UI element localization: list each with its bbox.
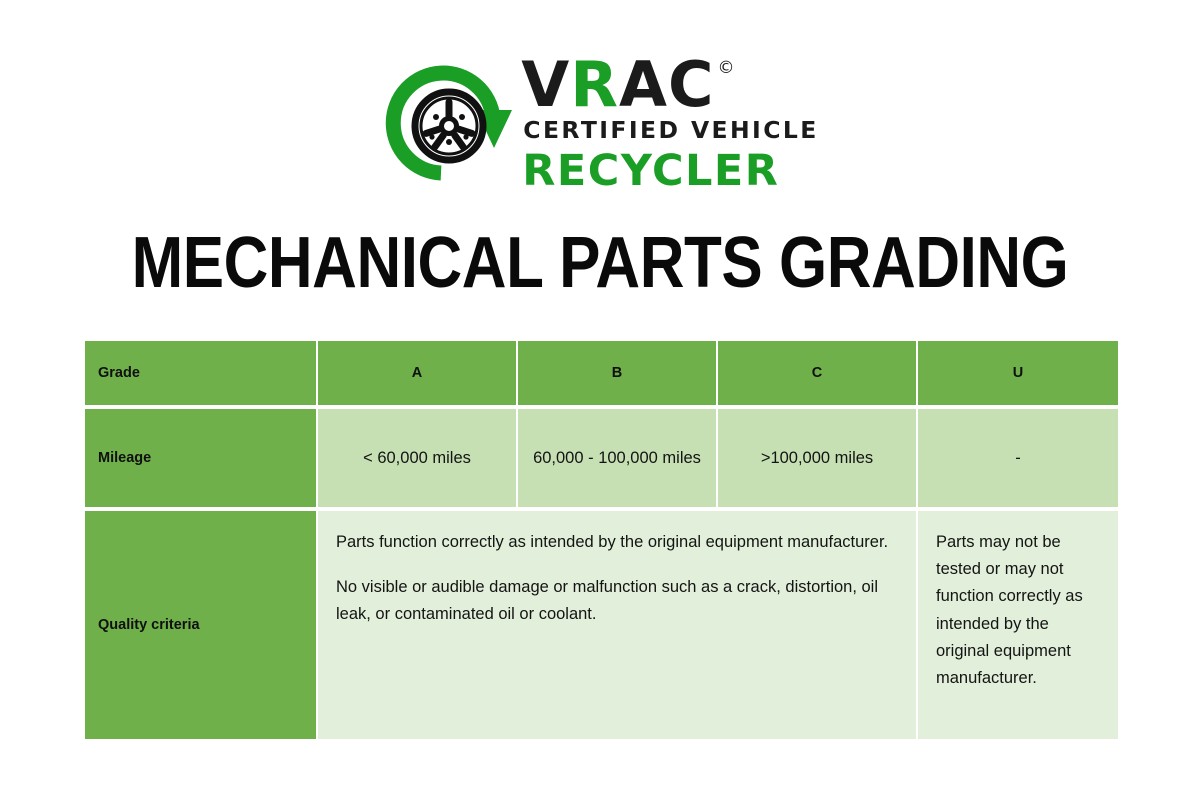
table-row-quality-criteria: Quality criteria Parts function correctl… [85,511,1118,739]
column-header-u: U [918,341,1118,405]
logo-recycler-word: RECYCLER [522,146,779,196]
quality-u-text: Parts may not be tested or may not funct… [936,529,1100,692]
cell-quality-abc: Parts function correctly as intended by … [318,511,918,739]
column-header-a: A [318,341,518,405]
brand-logo: VRAC© CERTIFIED VEHICLE RECYCLER [0,52,1200,202]
cell-mileage-c: >100,000 miles [718,409,918,507]
cell-quality-u: Parts may not be tested or may not funct… [918,511,1118,739]
cell-mileage-b: 60,000 - 100,000 miles [518,409,718,507]
cell-mileage-u: - [918,409,1118,507]
quality-paragraph-1: Parts function correctly as intended by … [336,529,898,556]
copyright-icon: © [718,60,736,77]
column-header-c: C [718,341,918,405]
mechanical-parts-grading-table: Grade A B C U Mileage < 60,000 miles 60,… [85,341,1118,739]
cell-mileage-a: < 60,000 miles [318,409,518,507]
logo-letter-v: V [521,56,570,113]
logo-letters-ac: AC [619,56,714,113]
logo-tagline: CERTIFIED VEHICLE [523,116,818,144]
page-title: MECHANICAL PARTS GRADING [84,222,1116,304]
column-header-b: B [518,341,718,405]
row-label-quality-criteria: Quality criteria [85,511,318,739]
column-header-grade: Grade [85,341,318,405]
row-label-mileage: Mileage [85,409,318,507]
vrac-recycling-wheel-logo-icon [381,56,515,190]
table-header-row: Grade A B C U [85,341,1118,405]
quality-paragraph-2: No visible or audible damage or malfunct… [336,574,898,628]
logo-letter-r: R [570,56,619,113]
logo-wordmark: VRAC© [521,56,732,113]
table-row-mileage: Mileage < 60,000 miles 60,000 - 100,000 … [85,409,1118,507]
